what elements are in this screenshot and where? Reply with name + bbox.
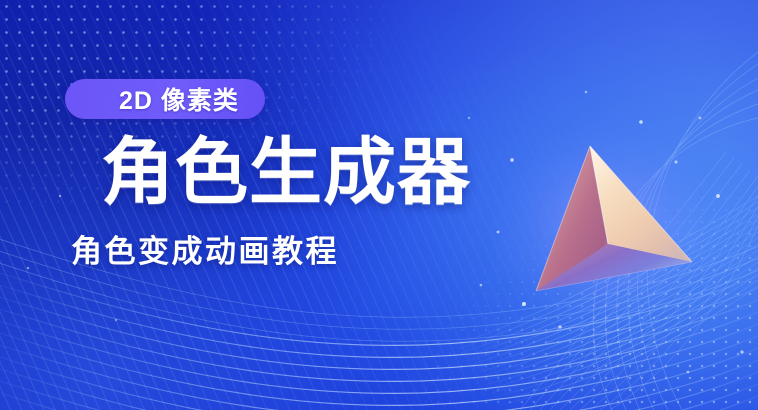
page-subtitle: 角色变成动画教程 (71, 236, 339, 267)
category-badge[interactable]: 2D 像素类 (65, 79, 265, 119)
category-badge-label: 2D 像素类 (119, 81, 239, 117)
page-title: 角色生成器 (101, 136, 471, 209)
promo-banner: 2D 像素类 角色生成器 角色变成动画教程 (0, 0, 758, 410)
banner-content: 2D 像素类 角色生成器 角色变成动画教程 (0, 0, 500, 410)
